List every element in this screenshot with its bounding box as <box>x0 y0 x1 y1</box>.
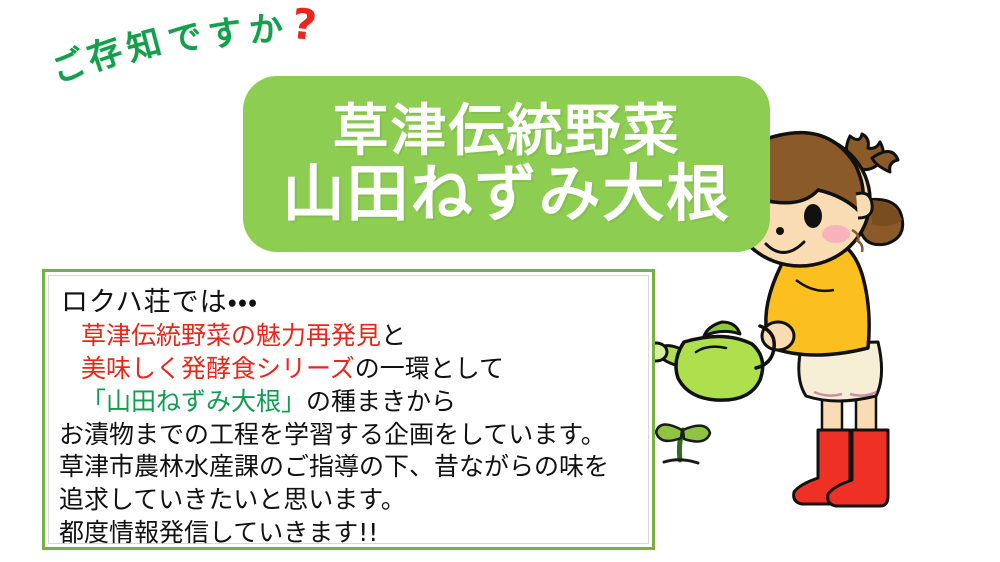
description-textbox-inner: ロクハ荘では・・・ 草津伝統野菜の魅力再発見と美味しく発酵食シリーズの一環として… <box>48 275 649 544</box>
sprout-icon <box>656 424 710 463</box>
watering-can-icon <box>650 322 774 400</box>
hand <box>762 322 794 350</box>
description-line: 美味しく発酵食シリーズの一環として <box>59 353 638 386</box>
description-segment: と <box>381 321 406 350</box>
description-line: 「山田ねずみ大根」の種まきから <box>59 386 638 419</box>
arc-headline-char-5: す <box>206 15 244 53</box>
description-line: 追求していきたいと思います。 <box>59 484 638 517</box>
description-segment: 草津伝統野菜の魅力再発見 <box>81 321 381 350</box>
description-textbox: ロクハ荘では・・・ 草津伝統野菜の魅力再発見と美味しく発酵食シリーズの一環として… <box>42 269 655 550</box>
description-segment: 都度情報発信していきます!! <box>59 518 378 547</box>
description-segment: の種まきから <box>306 387 456 416</box>
arc-headline-char-4: で <box>165 19 205 59</box>
description-segment: 美味しく発酵食シリーズ <box>81 354 355 383</box>
arc-headline-char-3: 知 <box>123 25 165 67</box>
description-line: 都度情報発信していきます!! <box>59 517 638 550</box>
description-line: 草津市農林水産課のご指導の下、昔ながらの味を <box>59 451 638 484</box>
arc-headline-char-1: ご <box>47 45 91 89</box>
description-segment: の一環として <box>355 354 504 383</box>
question-mark-icon: ? <box>290 3 319 47</box>
banner-title-line-2: 山田ねずみ大根 <box>282 162 730 225</box>
description-segment: 草津市農林水産課のご指導の下、昔ながらの味を <box>59 452 609 481</box>
banner-title-line-1: 草津伝統野菜 <box>333 103 681 160</box>
arc-headline-char-6: か <box>248 12 284 48</box>
description-segment: お漬物までの工程を学習する企画をしています。 <box>59 420 606 449</box>
description-segment: 追求していきたいと思います。 <box>59 485 406 514</box>
arc-headline: ご 存 知 で す か ? <box>52 8 372 98</box>
description-segment: 「山田ねずみ大根」 <box>81 387 306 416</box>
description-body: 草津伝統野菜の魅力再発見と美味しく発酵食シリーズの一環として「山田ねずみ大根」の… <box>59 320 638 549</box>
description-heading: ロクハ荘では・・・ <box>59 285 638 320</box>
description-line: 草津伝統野菜の魅力再発見と <box>59 320 638 353</box>
arc-headline-char-2: 存 <box>83 33 126 76</box>
description-line: お漬物までの工程を学習する企画をしています。 <box>59 419 638 452</box>
title-banner: 草津伝統野菜 山田ねずみ大根 <box>243 76 770 252</box>
